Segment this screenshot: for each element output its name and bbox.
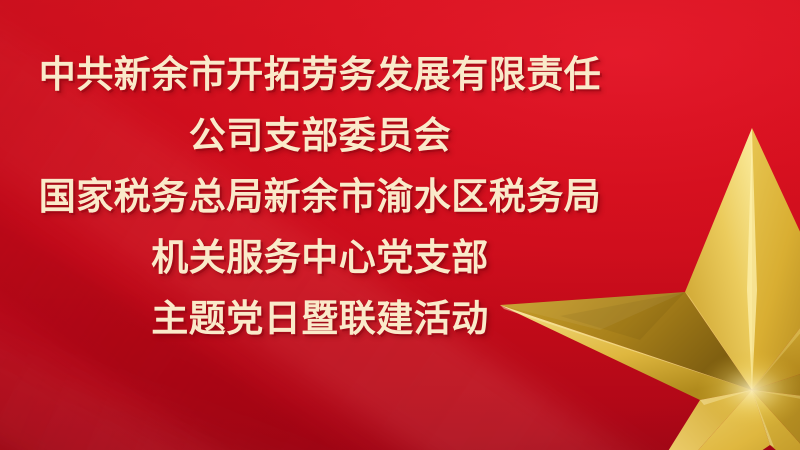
headline-line-2: 公司支部委员会 (0, 105, 640, 166)
poster-canvas: 中共新余市开拓劳务发展有限责任 公司支部委员会 国家税务总局新余市渝水区税务局 … (0, 0, 800, 450)
headline-line-4: 机关服务中心党支部 (0, 227, 640, 288)
headline-block: 中共新余市开拓劳务发展有限责任 公司支部委员会 国家税务总局新余市渝水区税务局 … (0, 44, 640, 349)
headline-line-1: 中共新余市开拓劳务发展有限责任 (0, 44, 640, 105)
headline-line-3: 国家税务总局新余市渝水区税务局 (0, 166, 640, 227)
headline-line-5: 主题党日暨联建活动 (0, 288, 640, 349)
